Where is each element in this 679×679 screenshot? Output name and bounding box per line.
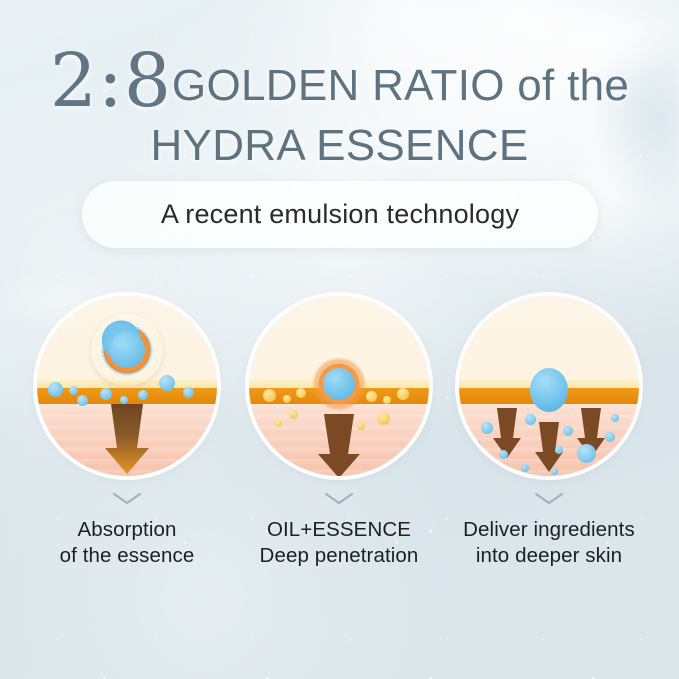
bubble-icon <box>69 386 78 395</box>
caption-oil-essence: OIL+ESSENCE Deep penetration <box>246 517 432 569</box>
bubble-icon <box>77 395 88 406</box>
headline-line-2: HYDRA ESSENCE <box>0 124 679 168</box>
bubble-icon <box>48 382 63 397</box>
caption-line-1: Absorption <box>34 517 220 543</box>
bubble-icon <box>611 414 619 422</box>
panel-oil-essence: OIL+ESSENCE Deep penetration <box>246 296 432 569</box>
bubble-icon <box>551 468 558 475</box>
oil-bubble-icon <box>383 396 391 404</box>
chevron-down-icon <box>324 492 354 505</box>
bubble-icon <box>183 387 194 398</box>
penetration-arrow-icon <box>311 414 367 476</box>
illustration-oil-essence <box>249 296 429 476</box>
illustration-absorption <box>37 296 217 476</box>
ringed-droplet-icon <box>309 354 369 414</box>
caption-line-1: OIL+ESSENCE <box>246 517 432 543</box>
bubble-icon <box>563 426 573 436</box>
subtitle-pill: A recent emulsion technology <box>82 181 598 248</box>
panel-deliver-ingredients: Deliver ingredients into deeper skin <box>456 296 642 569</box>
bubble-icon <box>499 450 508 459</box>
caption-line-2: into deeper skin <box>456 543 642 569</box>
panel-absorption: Absorption of the essence <box>34 296 220 569</box>
bubble-icon <box>471 440 481 450</box>
oil-bubble-icon <box>296 388 306 398</box>
concentric-droplet-icon <box>91 314 163 386</box>
oil-bubble-icon <box>263 389 276 402</box>
bubble-icon <box>138 390 148 400</box>
penetration-arrow-icon <box>97 404 157 476</box>
oil-bubble-icon <box>275 420 282 427</box>
subtitle-text: A recent emulsion technology <box>161 199 519 230</box>
droplet-icon <box>530 368 568 412</box>
chevron-down-icon <box>534 492 564 505</box>
caption-deliver-ingredients: Deliver ingredients into deeper skin <box>456 517 642 569</box>
chevron-down-icon <box>112 492 142 505</box>
caption-line-1: Deliver ingredients <box>456 517 642 543</box>
bubble-icon <box>159 375 175 391</box>
oil-bubble-icon <box>366 391 377 402</box>
oil-bubble-icon <box>289 410 298 419</box>
caption-line-2: Deep penetration <box>246 543 432 569</box>
bubble-icon <box>481 422 493 434</box>
bubble-icon <box>555 446 563 454</box>
oil-bubble-icon <box>377 412 390 425</box>
bubble-icon <box>525 414 536 425</box>
golden-ratio-value: 2:8 <box>50 38 172 124</box>
bubble-icon <box>577 444 596 463</box>
caption-line-2: of the essence <box>34 543 220 569</box>
headline-line-1: 2:8GOLDEN RATIO of the <box>0 44 679 118</box>
bubble-icon <box>120 396 128 404</box>
bubble-icon <box>605 432 615 442</box>
oil-bubble-icon <box>283 395 291 403</box>
caption-absorption: Absorption of the essence <box>34 517 220 569</box>
bubble-icon <box>521 464 529 472</box>
illustration-deliver-ingredients <box>459 296 639 476</box>
page-title: 2:8GOLDEN RATIO of the HYDRA ESSENCE <box>0 44 679 168</box>
bubble-icon <box>100 388 112 400</box>
headline-line-1-text: GOLDEN RATIO of the <box>172 61 629 110</box>
infographic-poster: 2:8GOLDEN RATIO of the HYDRA ESSENCE A r… <box>0 0 679 679</box>
panel-row: Absorption of the essence <box>0 296 679 616</box>
oil-bubble-icon <box>397 388 409 400</box>
